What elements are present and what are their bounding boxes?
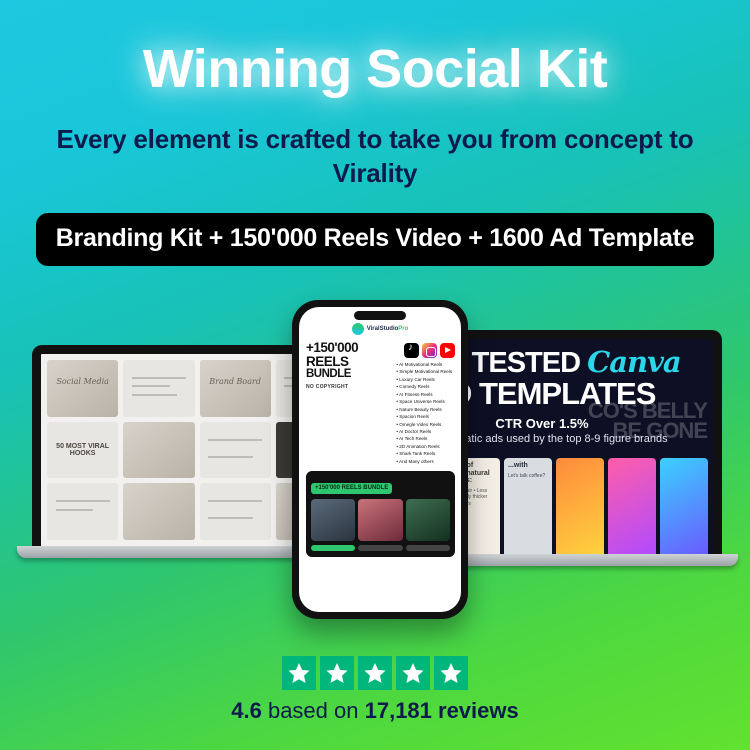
ad-card [608,458,656,554]
promo-card: +150'000 REELS BUNDLE [306,471,455,557]
phone-notch [354,311,406,320]
list-item: And Many others [396,458,455,465]
list-item: Luxury Car Reels [396,376,455,383]
promo-card-badge: +150'000 REELS BUNDLE [311,483,392,494]
grid-tile-label: 50 MOST VIRAL HOOKS [47,443,118,457]
grid-tile-label: Brand Board [200,377,271,386]
brand-name-1: Viral [367,326,380,332]
list-item: Omegle Video Reels [396,421,455,428]
grid-tile: 50 MOST VIRAL HOOKS [47,422,118,479]
ad-card: ...with Let's talk coffee? [504,458,552,554]
phone-content: +150'000 REELS BUNDLE NO COPYRIGHT [299,335,461,465]
grid-tile [47,483,118,540]
brand-lockup: ViralStudioPro [299,323,461,335]
no-copyright-label: NO COPYRIGHT [306,384,392,390]
star-icon [358,656,392,690]
reels-title-line3: BUNDLE [306,369,392,381]
grid-tile: Brand Board [200,360,271,417]
list-item: AI Motivational Reels [396,361,455,368]
brand-name-2: Studio [380,326,399,332]
promo-thumbnails [311,499,450,541]
promo-thumbnail [406,499,450,541]
grid-tile: Social Media [47,360,118,417]
promo-thumbnail [311,499,355,541]
canva-wordmark: Canva [587,345,681,379]
phone-screen: ViralStudioPro +150'000 REELS BUNDLE NO … [299,307,461,612]
ad-card-title: ...with [508,462,548,470]
tiktok-icon [404,343,419,358]
ad-card-sub: Let's talk coffee? [508,473,548,479]
promo-poster: Winning Social Kit Every element is craf… [0,0,750,750]
ad-card [556,458,604,554]
grid-tile [200,483,271,540]
reels-title-line1: +150'000 [306,341,392,355]
brand-name-3: Pro [398,326,408,332]
phone-mockup: ViralStudioPro +150'000 REELS BUNDLE NO … [292,300,468,619]
rating-score: 4.6 [231,698,262,723]
rating-middle-text: based on [268,698,359,723]
bundle-banner: Branding Kit + 150'000 Reels Video + 160… [36,213,714,266]
rating-count: 17,181 reviews [365,698,519,723]
star-icon [320,656,354,690]
grid-tile-label: Social Media [47,377,118,386]
promo-thumbnail [358,499,402,541]
grid-tile [123,360,194,417]
grid-tile [123,483,194,540]
social-icons [396,343,455,358]
list-item: AI Fitness Reels [396,391,455,398]
brand-logo-icon [352,323,364,335]
page-title: Winning Social Kit [143,38,608,100]
list-item: Comedy Reels [396,383,455,390]
list-item: Space Universe Reels [396,398,455,405]
list-item: Nature Beauty Reels [396,406,455,413]
promo-progress [311,545,450,551]
list-item: 2D Animation Reels [396,443,455,450]
list-item: AI Tech Reels [396,435,455,442]
subheadline: Every element is crafted to take you fro… [25,122,725,191]
star-icon [282,656,316,690]
list-item: Simple Motivational Reels [396,368,455,375]
star-icon [434,656,468,690]
list-item: Shark Tank Reels [396,450,455,457]
youtube-icon [440,343,455,358]
reels-title-line2: REELS [306,355,392,369]
rating-block: 4.6 based on 17,181 reviews [0,656,750,724]
grid-tile [200,422,271,479]
list-item: Spacion Reels [396,413,455,420]
ad-card [660,458,708,554]
devices-showcase: Social Media Brand Board 50 MOST VIRAL H… [0,290,750,640]
star-rating [0,656,750,690]
instagram-icon [422,343,437,358]
feature-list: AI Motivational Reels Simple Motivationa… [396,358,455,465]
reels-offer-block: +150'000 REELS BUNDLE NO COPYRIGHT [306,341,392,465]
grid-tile [123,422,194,479]
list-item: AI Doctor Reels [396,428,455,435]
star-icon [396,656,430,690]
